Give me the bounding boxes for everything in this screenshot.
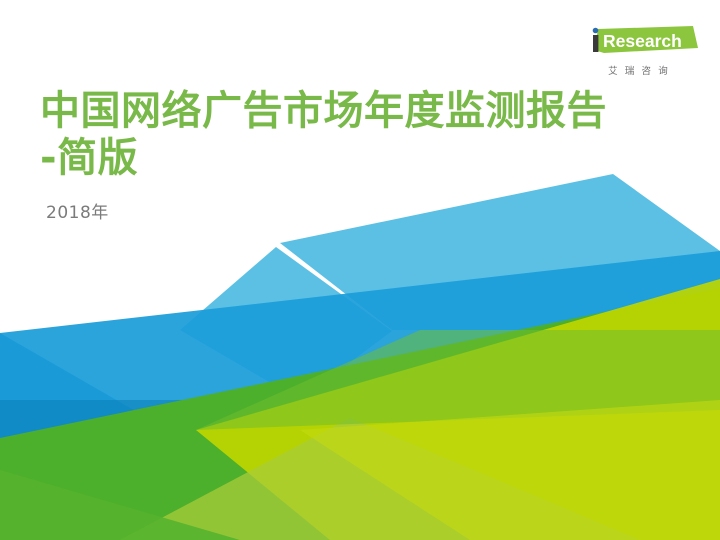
- iresearch-logo: Research 艾 瑞 咨 询: [580, 26, 698, 77]
- page-subtitle-year: 2018年: [46, 198, 109, 223]
- page-title-line-2: -简版: [40, 135, 690, 182]
- logo-wordmark: Research: [603, 31, 682, 51]
- logo-chinese-name: 艾 瑞 咨 询: [580, 63, 698, 77]
- logo-i-stem-icon: [593, 35, 598, 52]
- page-title-line-1: 中国网络广告市场年度监测报告: [40, 88, 690, 135]
- background-artwork: [0, 0, 720, 540]
- logo-i-dot-icon: [593, 28, 599, 34]
- presentation-slide: Research 艾 瑞 咨 询 中国网络广告市场年度监测报告 -简版 2018…: [0, 0, 720, 540]
- logo-mark: Research: [580, 26, 698, 56]
- logo-badge-icon: Research: [580, 26, 698, 56]
- page-title: 中国网络广告市场年度监测报告 -简版: [40, 88, 690, 182]
